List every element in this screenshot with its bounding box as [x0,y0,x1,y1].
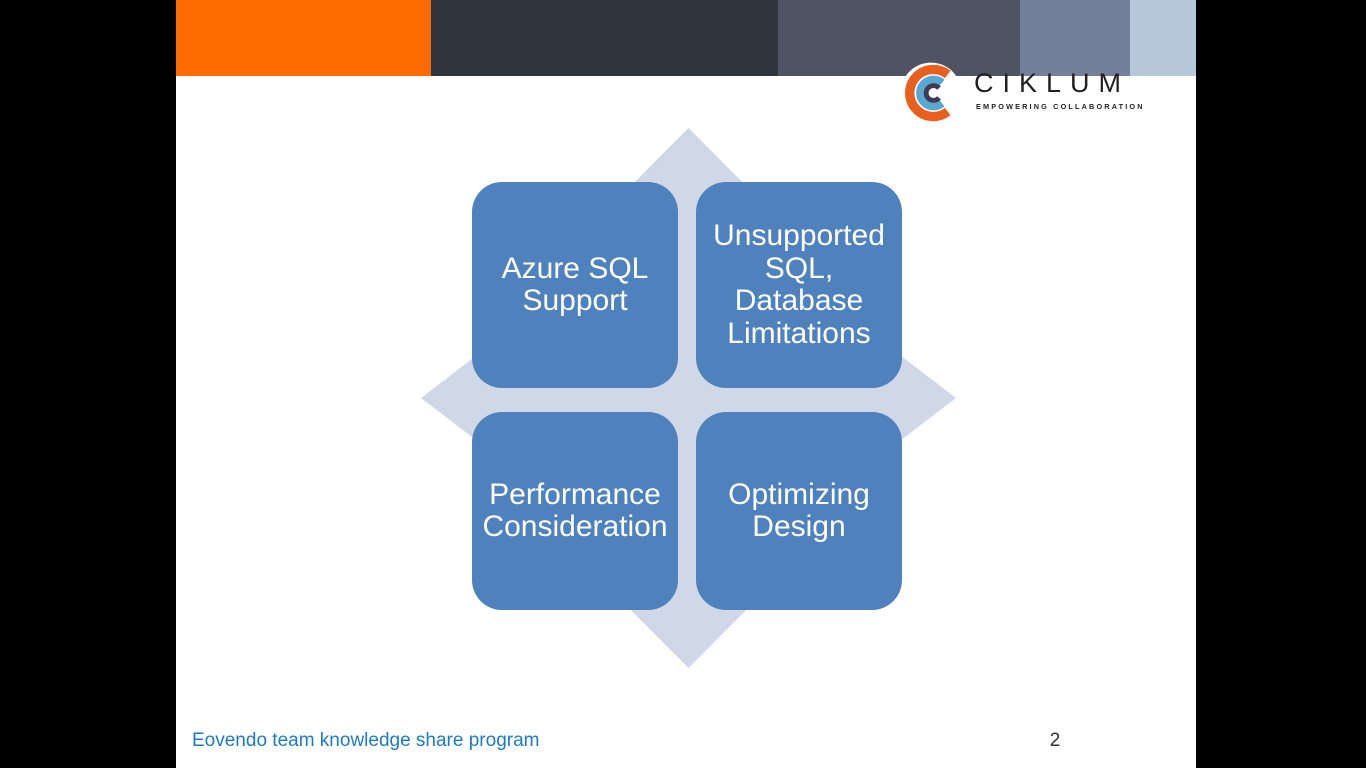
matrix-box-unsupported-sql-database-limitations[interactable]: Unsupported SQL, Database Limitations [696,182,902,388]
smartart-matrix-diagram: Azure SQL Support Unsupported SQL, Datab… [421,128,956,668]
footer-program-title: Eovendo team knowledge share program [192,730,539,752]
ciklum-logo: CIKLUM EMPOWERING COLLABORATION [900,62,1130,124]
slide-canvas: CIKLUM EMPOWERING COLLABORATION Azure SQ… [176,0,1196,768]
matrix-box-azure-sql-support[interactable]: Azure SQL Support [472,182,678,388]
matrix-quadrant-grid: Azure SQL Support Unsupported SQL, Datab… [472,182,902,610]
logo-wordmark-text: CIKLUM [974,68,1126,98]
matrix-box-optimizing-design[interactable]: Optimizing Design [696,412,902,610]
ciklum-wordmark: CIKLUM EMPOWERING COLLABORATION [974,68,1126,113]
band-segment-pale-blue [1130,0,1196,76]
slide-viewport: CIKLUM EMPOWERING COLLABORATION Azure SQ… [0,0,1366,768]
logo-tagline-text: EMPOWERING COLLABORATION [976,101,1126,113]
band-segment-orange [176,0,431,76]
matrix-box-performance-consideration[interactable]: Performance Consideration [472,412,678,610]
ciklum-circular-c-logo-icon [900,62,962,124]
band-segment-dark-slate [431,0,778,76]
footer-page-number: 2 [1040,730,1070,752]
